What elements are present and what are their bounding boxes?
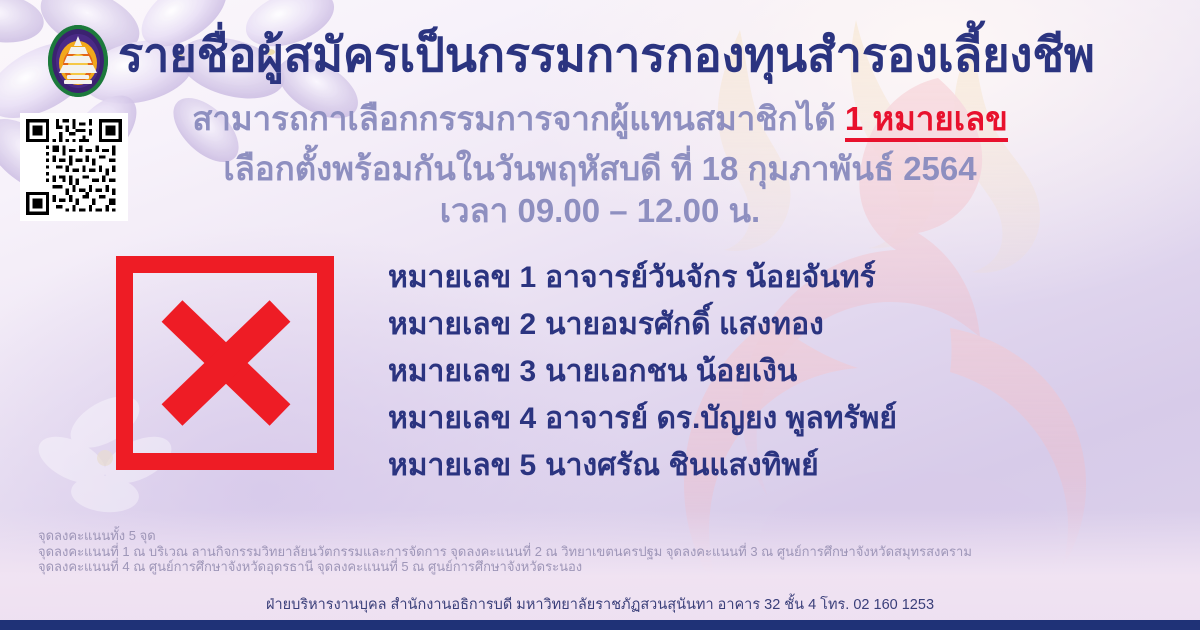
candidate-number: หมายเลข 1	[388, 263, 536, 293]
page-title: รายชื่อผู้สมัครเป็นกรรมการกองทุนสำรองเลี…	[118, 30, 1183, 80]
ballot-box-x-icon	[116, 256, 334, 470]
bottom-accent-bar	[0, 620, 1200, 630]
note-line: จุดลงคะแนนที่ 4 ณ ศูนย์การศึกษาจังหวัดอุ…	[38, 559, 1178, 575]
candidate-item: หมายเลข 4 อาจารย์ ดร.บัญยง พูลทรัพย์	[388, 395, 1148, 442]
candidate-number: หมายเลข 4	[388, 404, 536, 434]
candidate-name: อาจารย์ ดร.บัญยง พูลทรัพย์	[545, 404, 897, 434]
election-poster: รายชื่อผู้สมัครเป็นกรรมการกองทุนสำรองเลี…	[0, 0, 1200, 630]
note-line: จุดลงคะแนนที่ 1 ณ บริเวณ ลานกิจกรรมวิทยา…	[38, 544, 1178, 560]
candidate-item: หมายเลข 5 นางศรัณ ชินแสงทิพย์	[388, 442, 1148, 489]
ballot-count-highlight: 1 หมายเลข	[845, 100, 1008, 142]
subtitle-prefix: สามารถกาเลือกกรรมการจากผู้แทนสมาชิกได้	[192, 100, 835, 137]
candidate-name: นางศรัณ ชินแสงทิพย์	[545, 451, 819, 481]
candidate-name: อาจารย์วันจักร น้อยจันทร์	[545, 263, 876, 293]
candidate-item: หมายเลข 2 นายอมรศักดิ์ แสงทอง	[388, 301, 1148, 348]
subtitle-line-3: เวลา 09.00 – 12.00 น.	[0, 192, 1200, 231]
subtitle-line-1: สามารถกาเลือกกรรมการจากผู้แทนสมาชิกได้ 1…	[0, 100, 1200, 139]
university-emblem-icon	[47, 24, 109, 98]
candidate-name: นายเอกชน น้อยเงิน	[545, 357, 797, 387]
contact-info: ฝ่ายบริหารงานบุคล สำนักงานอธิการบดี มหาว…	[0, 593, 1200, 616]
polling-station-notes: จุดลงคะแนนทั้ง 5 จุด จุดลงคะแนนที่ 1 ณ บ…	[38, 528, 1178, 575]
subtitle-line-2: เลือกตั้งพร้อมกันในวันพฤหัสบดี ที่ 18 กุ…	[0, 150, 1200, 189]
candidate-item: หมายเลข 3 นายเอกชน น้อยเงิน	[388, 348, 1148, 395]
candidate-name: นายอมรศักดิ์ แสงทอง	[545, 310, 824, 340]
candidate-number: หมายเลข 2	[388, 310, 536, 340]
candidate-number: หมายเลข 3	[388, 357, 536, 387]
candidate-number: หมายเลข 5	[388, 451, 536, 481]
candidate-list: หมายเลข 1 อาจารย์วันจักร น้อยจันทร์ หมาย…	[388, 254, 1148, 489]
note-line: จุดลงคะแนนทั้ง 5 จุด	[38, 528, 1178, 544]
candidate-item: หมายเลข 1 อาจารย์วันจักร น้อยจันทร์	[388, 254, 1148, 301]
